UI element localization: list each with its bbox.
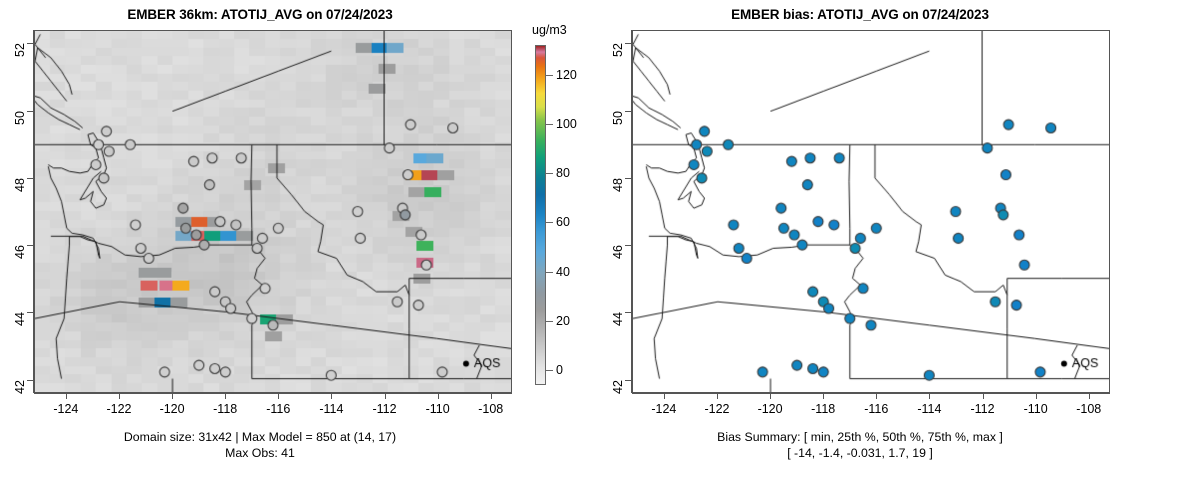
x-axis-tick: [278, 393, 279, 399]
caption-bias-summary-values: [ -14, -1.4, -0.031, 1.7, 19 ]: [600, 446, 1120, 460]
x-axis-bias: [632, 393, 1110, 394]
colorbar-tick-label: 0: [556, 363, 563, 377]
colorbar-tick-label: 20: [556, 314, 570, 328]
x-axis-label: -122: [704, 402, 729, 416]
y-axis-label: 42: [611, 380, 625, 394]
x-axis-model: [34, 393, 512, 394]
map-plot-model[interactable]: [34, 30, 512, 393]
y-axis-label: 44: [13, 312, 27, 326]
x-axis-tick: [385, 393, 386, 399]
y-axis-tick: [625, 111, 631, 112]
y-axis-tick: [27, 111, 33, 112]
colorbar-tick: [546, 321, 553, 322]
y-axis-tick: [625, 43, 631, 44]
x-axis-label: -120: [758, 402, 783, 416]
y-axis-tick: [27, 245, 33, 246]
x-axis-label: -118: [811, 402, 835, 416]
x-axis-label: -124: [651, 402, 676, 416]
figure-canvas: EMBER 36km: ATOTIJ_AVG on 07/24/2023 Dom…: [0, 0, 1200, 479]
colorbar-tick: [546, 222, 553, 223]
caption-max-obs: Max Obs: 41: [0, 446, 520, 460]
colorbar-gradient-model: [535, 45, 546, 385]
map-plot-bias[interactable]: [632, 30, 1110, 393]
x-axis-label: -120: [160, 402, 185, 416]
x-axis-tick: [770, 393, 771, 399]
x-axis-label: -122: [106, 402, 131, 416]
x-axis-tick: [491, 393, 492, 399]
colorbar-tick-label: 60: [556, 215, 570, 229]
y-axis-tick: [625, 380, 631, 381]
y-axis-model: [33, 30, 34, 393]
x-axis-tick: [172, 393, 173, 399]
y-axis-label: 48: [13, 178, 27, 192]
x-axis-tick: [66, 393, 67, 399]
model-concentration-raster: [35, 31, 511, 392]
colorbar-tick-label: 120: [556, 68, 577, 82]
y-axis-label: 46: [611, 245, 625, 259]
x-axis-label: -108: [478, 402, 503, 416]
x-axis-label: -116: [266, 402, 290, 416]
y-axis-label: 48: [611, 178, 625, 192]
x-axis-tick: [1036, 393, 1037, 399]
x-axis-label: -118: [213, 402, 237, 416]
y-axis-tick: [625, 245, 631, 246]
panel-title-bias: EMBER bias: ATOTIJ_AVG on 07/24/2023: [600, 7, 1120, 22]
x-axis-label: -112: [372, 402, 396, 416]
y-axis-label: 50: [13, 111, 27, 125]
y-axis-bias: [631, 30, 632, 393]
x-axis-label: -124: [53, 402, 78, 416]
x-axis-tick: [225, 393, 226, 399]
x-axis-tick: [438, 393, 439, 399]
y-axis-tick: [27, 312, 33, 313]
y-axis-label: 52: [611, 43, 625, 57]
x-axis-tick: [929, 393, 930, 399]
colorbar-tick-label: 80: [556, 166, 570, 180]
x-axis-label: -110: [426, 402, 450, 416]
y-axis-tick: [625, 178, 631, 179]
x-axis-label: -114: [319, 402, 343, 416]
y-axis-label: 42: [13, 380, 27, 394]
x-axis-tick: [664, 393, 665, 399]
colorbar-tick: [546, 75, 553, 76]
colorbar-tick: [546, 370, 553, 371]
bias-observation-overlay: [633, 31, 1109, 392]
y-axis-tick: [625, 312, 631, 313]
y-axis-label: 44: [611, 312, 625, 326]
y-axis-label: 50: [611, 111, 625, 125]
colorbar-unit-model: ug/m3: [532, 23, 567, 37]
colorbar-tick-label: 40: [556, 265, 570, 279]
panel-bias: EMBER bias: ATOTIJ_AVG on 07/24/2023 Bia…: [600, 0, 1200, 479]
caption-domain-size: Domain size: 31x42 | Max Model = 850 at …: [0, 430, 520, 444]
x-axis-label: -108: [1076, 402, 1101, 416]
x-axis-tick: [823, 393, 824, 399]
x-axis-tick: [119, 393, 120, 399]
colorbar-tick: [546, 173, 553, 174]
y-axis-tick: [27, 43, 33, 44]
x-axis-tick: [983, 393, 984, 399]
y-axis-tick: [27, 380, 33, 381]
x-axis-label: -112: [970, 402, 994, 416]
x-axis-tick: [331, 393, 332, 399]
colorbar-tick-label: 100: [556, 117, 577, 131]
colorbar-tick: [546, 272, 553, 273]
x-axis-tick: [1089, 393, 1090, 399]
panel-title-model: EMBER 36km: ATOTIJ_AVG on 07/24/2023: [0, 7, 520, 22]
colorbar-tick: [546, 124, 553, 125]
y-axis-label: 52: [13, 43, 27, 57]
x-axis-tick: [717, 393, 718, 399]
y-axis-tick: [27, 178, 33, 179]
y-axis-label: 46: [13, 245, 27, 259]
x-axis-label: -114: [917, 402, 941, 416]
x-axis-tick: [876, 393, 877, 399]
x-axis-label: -116: [864, 402, 888, 416]
caption-bias-summary-header: Bias Summary: [ min, 25th %, 50th %, 75t…: [600, 430, 1120, 444]
panel-model: EMBER 36km: ATOTIJ_AVG on 07/24/2023 Dom…: [0, 0, 600, 479]
x-axis-label: -110: [1024, 402, 1048, 416]
